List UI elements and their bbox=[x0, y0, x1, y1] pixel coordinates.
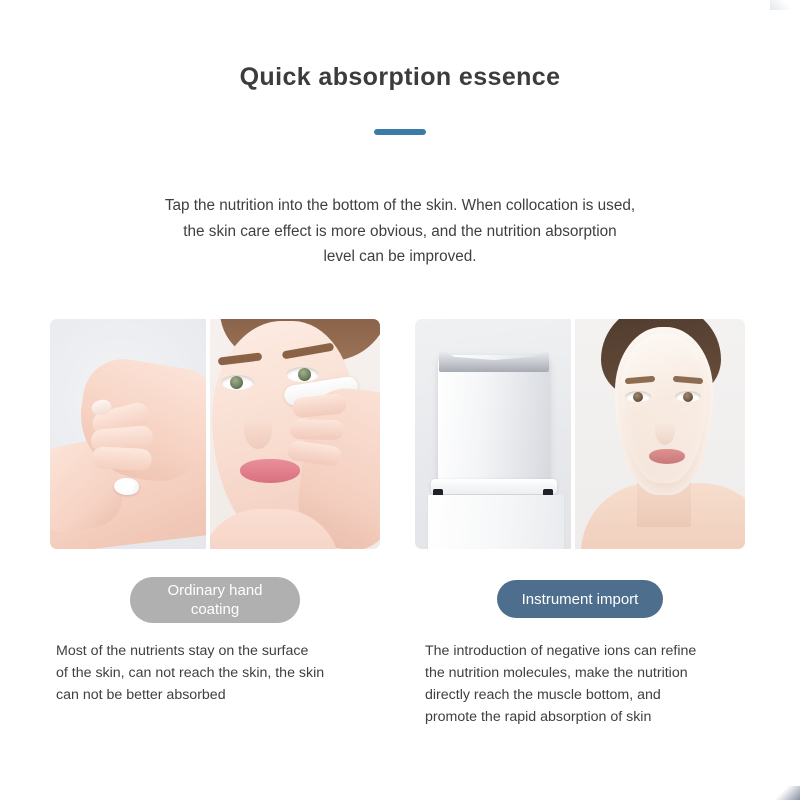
description-line: can not be better absorbed bbox=[56, 684, 386, 706]
accent-divider-bar bbox=[374, 129, 426, 135]
badge-ordinary-hand-coating: Ordinary hand coating bbox=[130, 577, 300, 623]
product-detail-page: Quick absorption essence Tap the nutriti… bbox=[0, 0, 800, 800]
description-line: The introduction of negative ions can re… bbox=[425, 640, 755, 662]
top-right-corner-artifact bbox=[770, 0, 800, 10]
photo-panel-ordinary bbox=[50, 319, 380, 549]
ultrasonic-skin-scrubber-device-photo bbox=[415, 319, 571, 549]
intro-line: the skin care effect is more obvious, an… bbox=[100, 219, 700, 245]
badge-row-ordinary: Ordinary hand coating bbox=[50, 577, 380, 623]
badge-row-instrument: Instrument import bbox=[415, 577, 745, 618]
woman-wearing-sheet-mask-photo bbox=[575, 319, 745, 549]
photo-panel-instrument bbox=[415, 319, 745, 549]
page-title: Quick absorption essence bbox=[0, 62, 800, 92]
description-line: Most of the nutrients stay on the surfac… bbox=[56, 640, 386, 662]
description-line: of the skin, can not reach the skin, the… bbox=[56, 662, 386, 684]
comparison-column-ordinary: Ordinary hand coating Most of the nutrie… bbox=[50, 319, 380, 549]
comparison-column-instrument: Instrument import The introduction of ne… bbox=[415, 319, 745, 549]
description-line: directly reach the muscle bottom, and bbox=[425, 684, 755, 706]
page-header: Quick absorption essence bbox=[0, 62, 800, 135]
badge-instrument-import: Instrument import bbox=[497, 580, 663, 618]
description-instrument: The introduction of negative ions can re… bbox=[425, 640, 755, 728]
bottom-right-corner-artifact bbox=[774, 786, 800, 800]
intro-line: level can be improved. bbox=[100, 244, 700, 270]
hand-applying-cream-photo bbox=[50, 319, 206, 549]
description-line: the nutrition molecules, make the nutrit… bbox=[425, 662, 755, 684]
intro-line: Tap the nutrition into the bottom of the… bbox=[100, 193, 700, 219]
intro-paragraph: Tap the nutrition into the bottom of the… bbox=[100, 193, 700, 270]
description-line: promote the rapid absorption of skin bbox=[425, 706, 755, 728]
comparison-section: Ordinary hand coating Most of the nutrie… bbox=[0, 319, 800, 739]
description-ordinary: Most of the nutrients stay on the surfac… bbox=[56, 640, 386, 706]
cream-blob-icon bbox=[114, 478, 139, 495]
device-blade-icon bbox=[439, 349, 549, 372]
woman-applying-cream-to-cheek-photo bbox=[210, 319, 380, 549]
